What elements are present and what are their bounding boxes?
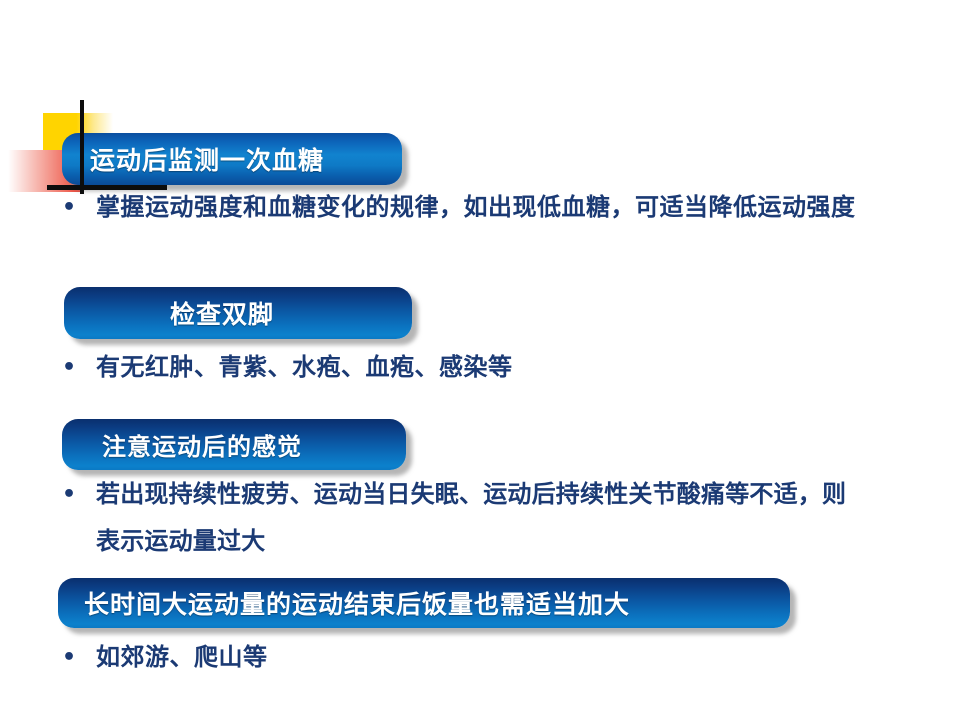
bullet-text-3: 若出现持续性疲劳、运动当日失眠、运动后持续性关节酸痛等不适，则表示运动量过大 bbox=[96, 471, 862, 565]
bullet-dot-icon-3: • bbox=[62, 471, 96, 518]
section-heading-label-1: 运动后监测一次血糖 bbox=[90, 141, 324, 177]
vertical-rule-decoration bbox=[80, 100, 84, 194]
bullet-item-1: • 掌握运动强度和血糖变化的规律，如出现低血糖，可适当降低运动强度 bbox=[62, 184, 882, 231]
section-heading-label-2: 检查双脚 bbox=[170, 295, 274, 331]
bullet-dot-icon-1: • bbox=[62, 184, 96, 231]
bullet-text-1: 掌握运动强度和血糖变化的规律，如出现低血糖，可适当降低运动强度 bbox=[96, 184, 856, 231]
section-heading-pill-2: 检查双脚 bbox=[64, 287, 412, 339]
section-heading-label-3: 注意运动后的感觉 bbox=[102, 427, 302, 462]
bullet-dot-icon-2: • bbox=[62, 344, 96, 391]
bullet-text-4: 如郊游、爬山等 bbox=[96, 634, 268, 681]
section-heading-pill-3: 注意运动后的感觉 bbox=[62, 419, 406, 470]
bullet-item-3: • 若出现持续性疲劳、运动当日失眠、运动后持续性关节酸痛等不适，则表示运动量过大 bbox=[62, 471, 862, 565]
horizontal-rule-decoration bbox=[47, 185, 167, 190]
section-heading-pill-4: 长时间大运动量的运动结束后饭量也需适当加大 bbox=[58, 578, 790, 628]
bullet-item-2: • 有无红肿、青紫、水疱、血疱、感染等 bbox=[62, 344, 822, 391]
section-heading-label-4: 长时间大运动量的运动结束后饭量也需适当加大 bbox=[84, 585, 630, 621]
section-heading-pill-1: 运动后监测一次血糖 bbox=[62, 133, 402, 185]
bullet-item-4: • 如郊游、爬山等 bbox=[62, 634, 662, 681]
slide-canvas: 运动后监测一次血糖 • 掌握运动强度和血糖变化的规律，如出现低血糖，可适当降低运… bbox=[0, 0, 960, 720]
bullet-text-2: 有无红肿、青紫、水疱、血疱、感染等 bbox=[96, 344, 513, 391]
bullet-dot-icon-4: • bbox=[62, 634, 96, 681]
